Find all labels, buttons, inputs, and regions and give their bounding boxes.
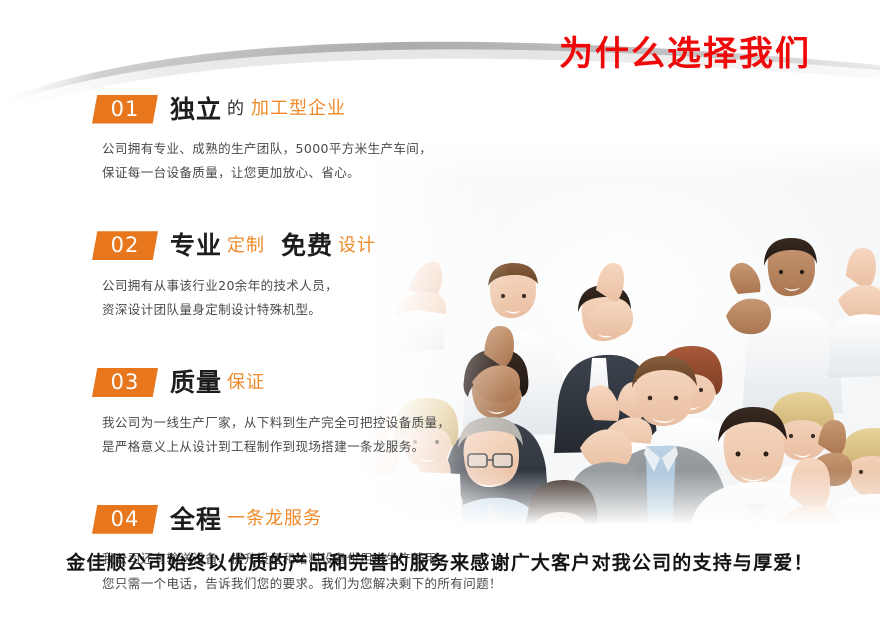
feature-body-line: 保证每一台设备质量，让您更加放心、省心。 bbox=[102, 161, 492, 185]
page-title: 为什么选择我们 bbox=[520, 26, 850, 75]
feature-heading-04: 04 全程 一条龙服务 bbox=[92, 502, 492, 536]
feature-body-01: 公司拥有专业、成熟的生产团队，5000平方米生产车间， 保证每一台设备质量，让您… bbox=[102, 137, 492, 186]
feature-body-03: 我公司为一线生产厂家，从下料到生产完全可把控设备质量， 是严格意义上从设计到工程… bbox=[102, 411, 492, 460]
feature-title-main: 专业 bbox=[170, 233, 222, 258]
feature-body-line: 资深设计团队量身定制设计特殊机型。 bbox=[102, 298, 492, 322]
feature-title-main: 全程 bbox=[170, 507, 222, 532]
badge-number: 01 bbox=[92, 95, 158, 124]
feature-list: 01 独立 的 加工型企业 公司拥有专业、成熟的生产团队，5000平方米生产车间… bbox=[92, 92, 492, 626]
feature-item-01: 01 独立 的 加工型企业 公司拥有专业、成熟的生产团队，5000平方米生产车间… bbox=[92, 92, 492, 186]
badge-number: 04 bbox=[92, 505, 158, 534]
feature-heading-01: 01 独立 的 加工型企业 bbox=[92, 92, 492, 126]
feature-title-accent: 保证 bbox=[227, 374, 265, 392]
feature-title-accent-2: 设计 bbox=[338, 237, 376, 255]
feature-body-line: 公司拥有从事该行业20余年的技术人员， bbox=[102, 274, 492, 298]
badge-number: 03 bbox=[92, 368, 158, 397]
feature-title-accent: 加工型企业 bbox=[251, 100, 346, 118]
footer-tagline: 金佳顺公司始终以优质的产品和完善的服务来感谢广大客户对我公司的支持与厚爱！ bbox=[0, 548, 880, 575]
number-badge-04: 04 bbox=[92, 505, 158, 534]
number-badge-02: 02 bbox=[92, 231, 158, 260]
feature-title-main: 独立 bbox=[170, 97, 222, 122]
feature-heading-02: 02 专业 定制 免费 设计 bbox=[92, 229, 492, 263]
feature-title-accent: 一条龙服务 bbox=[227, 510, 322, 528]
feature-title-plain: 的 bbox=[227, 101, 244, 118]
number-badge-01: 01 bbox=[92, 95, 158, 124]
feature-body-line: 是严格意义上从设计到工程制作到现场搭建一条龙服务。 bbox=[102, 435, 492, 459]
feature-item-03: 03 质量 保证 我公司为一线生产厂家，从下料到生产完全可把控设备质量， 是严格… bbox=[92, 366, 492, 460]
feature-title-main: 质量 bbox=[170, 370, 222, 395]
badge-number: 02 bbox=[92, 231, 158, 260]
feature-body-line: 您只需一个电话，告诉我们您的要求。我们为您解决剩下的所有问题！ bbox=[102, 572, 492, 596]
number-badge-03: 03 bbox=[92, 368, 158, 397]
feature-item-02: 02 专业 定制 免费 设计 公司拥有从事该行业20余年的技术人员， 资深设计团… bbox=[92, 229, 492, 323]
feature-body-line: 我公司为一线生产厂家，从下料到生产完全可把控设备质量， bbox=[102, 411, 492, 435]
feature-title-accent: 定制 bbox=[227, 237, 265, 255]
feature-heading-03: 03 质量 保证 bbox=[92, 366, 492, 400]
feature-title-main-2: 免费 bbox=[281, 233, 333, 258]
feature-body-line: 公司拥有专业、成熟的生产团队，5000平方米生产车间， bbox=[102, 137, 492, 161]
feature-body-02: 公司拥有从事该行业20余年的技术人员， 资深设计团队量身定制设计特殊机型。 bbox=[102, 274, 492, 323]
promo-banner: 为什么选择我们 bbox=[0, 0, 880, 626]
